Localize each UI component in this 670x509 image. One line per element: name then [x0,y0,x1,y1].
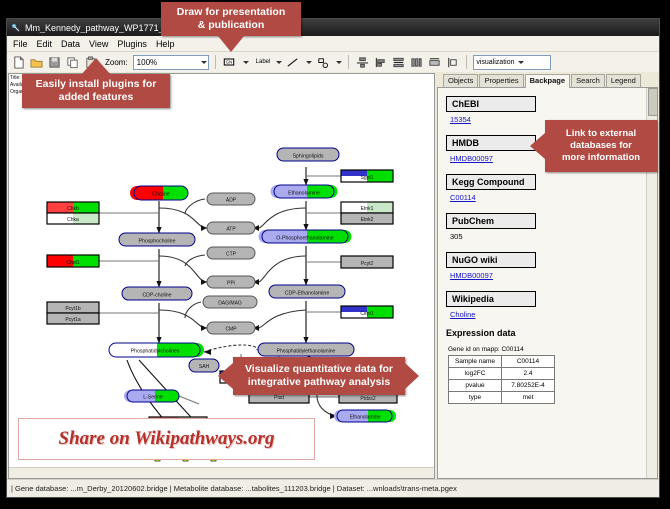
svg-text:Choline: Choline [152,192,170,198]
svg-text:Chpt1: Chpt1 [66,260,80,266]
expr-key-log2fc: log2FC [449,368,502,380]
gene-cept1[interactable]: Cept1 [341,306,393,318]
db-header-kegg: Kegg Compound [446,174,536,190]
svg-text:Chka: Chka [67,217,79,223]
node-phosphatidylcholines[interactable]: Phosphatidylcholines [105,343,204,357]
svg-text:Pcyt1a: Pcyt1a [65,317,81,323]
visualization-chevron-icon[interactable] [518,61,524,64]
node-choline-top[interactable]: Choline [130,186,188,200]
ungroup-icon[interactable] [445,55,460,70]
gene-chkb[interactable]: Chkb [47,202,99,213]
table-row: log2FC 2.4 [449,368,555,380]
callout-draw-text: Draw for presentation & publication [177,6,286,32]
visualization-value: visualization [476,59,514,66]
align-left-edge-icon[interactable] [373,55,388,70]
expr-val-pvalue: 7.80252E-4 [502,380,555,392]
gene-pcyt1b[interactable]: Pcyt1b [47,302,99,313]
svg-text:Pcyt1b: Pcyt1b [65,306,81,312]
node-atp[interactable]: ATP [207,222,255,234]
table-row: Sample name C00114 [449,356,555,368]
group-icon[interactable] [427,55,442,70]
expression-data-heading: Expression data [446,328,657,338]
zoom-combobox[interactable]: 100% [133,55,209,70]
expr-val-type: met [502,392,555,404]
statusbar: | Gene database: ...m_Derby_20120602.bri… [7,479,659,497]
menu-view[interactable]: View [89,39,108,49]
new-file-icon[interactable] [11,55,26,70]
callout-visualize-arrow-left-icon [218,363,233,389]
tab-properties[interactable]: Properties [479,74,523,87]
node-phosphatidylethanolamine[interactable]: Phosphatidylethanolamine [258,343,354,356]
svg-text:Etnk2: Etnk2 [361,217,374,223]
callout-visualize-arrow-right-icon [405,363,419,389]
db-header-hmdb: HMDB [446,135,536,151]
node-ctp[interactable]: CTP [207,247,255,259]
svg-text:CDP-choline: CDP-choline [142,292,171,298]
menu-edit[interactable]: Edit [37,39,53,49]
node-ppi[interactable]: PPi [207,276,255,288]
callout-link-arrow-icon [530,133,545,159]
node-adp[interactable]: ADP [207,193,255,205]
db-header-chebi: ChEBI [446,96,536,112]
svg-text:Ethanolamine: Ethanolamine [350,415,381,421]
node-o-phosphoethanolamine[interactable]: O-Phosphoethanolamine [259,230,352,243]
gene-etnk1[interactable]: Etnk1 [341,202,393,213]
svg-text:Cept1: Cept1 [360,311,374,317]
callout-draw-for-publication: Draw for presentation & publication [161,2,301,36]
gene-chka[interactable]: Chka [47,213,99,224]
toolbar-separator-3 [466,55,467,69]
callout-visualize-data: Visualize quantitative data for integrat… [233,357,405,395]
menubar[interactable]: File Edit Data View Plugins Help [7,36,659,52]
svg-text:Pisd: Pisd [274,395,284,401]
db-link-kegg[interactable]: C00114 [450,193,657,202]
shape-tool-icon[interactable] [315,55,330,70]
db-header-wikipedia: Wikipedia [446,291,536,307]
callout-share-text: Share on Wikipathways.org [59,428,275,450]
menu-plugins[interactable]: Plugins [117,39,147,49]
toolbar-separator-2 [348,55,349,69]
datanode-dropdown-icon[interactable] [243,61,249,64]
backpage-vscroll-thumb[interactable] [648,88,658,116]
side-tabs[interactable]: Objects Properties Backpage Search Legen… [437,73,658,88]
node-ethanolamine-top[interactable]: Ethanolamine [271,185,338,198]
expr-key-pvalue: pvalue [449,380,502,392]
node-sphingolipids[interactable]: Sphingolipids [277,148,339,161]
node-sah[interactable]: SAH [189,359,219,372]
db-value-pubchem: 305 [450,232,657,241]
svg-text:L-Serine: L-Serine [143,395,163,401]
db-entry-pubchem: PubChem 305 [446,211,657,241]
menu-help[interactable]: Help [156,39,175,49]
tab-backpage[interactable]: Backpage [525,74,570,88]
line-dropdown-icon[interactable] [306,61,312,64]
zoom-value: 100% [137,58,157,67]
gene-etnk2[interactable]: Etnk2 [341,213,393,224]
svg-text:Sphingolipids: Sphingolipids [293,153,324,159]
gene-sgpl1[interactable]: Sgpl1 [341,170,393,182]
statusbar-text: | Gene database: ...m_Derby_20120602.bri… [11,484,457,493]
callout-plugins-text: Easily install plugins for added feature… [36,78,157,104]
db-link-nugo[interactable]: HMDB00097 [450,271,657,280]
svg-text:Phosphatidylethanolamine: Phosphatidylethanolamine [277,348,336,354]
svg-text:Pcyt2: Pcyt2 [361,261,374,267]
svg-text:CTP: CTP [226,252,237,258]
svg-text:O-Phosphoethanolamine: O-Phosphoethanolamine [276,235,334,241]
window-titlebar: Mm_Kennedy_pathway_WP1771_45176.gpml [7,19,659,36]
gene-pcyt2[interactable]: Pcyt2 [341,256,393,268]
callout-external-links: Link to external databases for more info… [545,120,657,172]
tab-objects[interactable]: Objects [443,74,478,87]
align-center-icon[interactable] [355,55,370,70]
db-entry-kegg: Kegg Compound C00114 [446,172,657,202]
canvas-hscrollbar[interactable] [9,467,434,478]
svg-text:Etnk1: Etnk1 [361,206,374,212]
svg-text:GN: GN [226,60,232,65]
menu-data[interactable]: Data [61,39,80,49]
svg-text:Phosphatidylcholines: Phosphatidylcholines [131,349,180,355]
node-ethanolamine-right[interactable]: Ethanolamine [334,410,396,422]
callout-plugins-arrow-icon [81,58,111,75]
open-folder-icon[interactable] [29,55,44,70]
shape-dropdown-icon[interactable] [336,61,342,64]
stack-vertical-icon[interactable] [391,55,406,70]
line-tool-icon[interactable] [285,55,300,70]
callout-install-plugins: Easily install plugins for added feature… [22,74,170,108]
db-entry-nugo: NuGO wiki HMDB00097 [446,250,657,280]
svg-text:Ptdss2: Ptdss2 [360,396,376,402]
menu-file[interactable]: File [13,39,28,49]
svg-text:Sgpl1: Sgpl1 [361,175,374,181]
svg-text:PPi: PPi [227,281,235,287]
visualization-combobox[interactable]: visualization [473,55,551,70]
gene-id-on-mapp: Gene id on mapp: C00114 [448,346,657,353]
screenshot-root: Mm_Kennedy_pathway_WP1771_45176.gpml Fil… [0,0,670,509]
expr-val-sample-name: C00114 [502,356,555,368]
node-cdp-ethanolamine[interactable]: CDP-Ethanolamine [269,285,345,298]
datanode-tool-icon[interactable]: GN [222,55,237,70]
expr-key-type: type [449,392,502,404]
svg-text:Phosphocholine: Phosphocholine [139,238,176,244]
node-cmp[interactable]: CMP [207,322,255,334]
table-row: pvalue 7.80252E-4 [449,380,555,392]
toolbar-separator [215,55,216,69]
tab-search[interactable]: Search [571,74,605,87]
svg-text:CDP-Ethanolamine: CDP-Ethanolamine [285,290,330,296]
gene-pcyt1a[interactable]: Pcyt1a [47,313,99,324]
label-dropdown-icon[interactable] [276,61,282,64]
db-header-pubchem: PubChem [446,213,536,229]
db-link-wikipedia[interactable]: Choline [450,310,657,319]
node-dag-mag[interactable]: DAG/MAG [203,296,257,308]
table-row: type met [449,392,555,404]
save-icon[interactable] [47,55,62,70]
svg-text:CMP: CMP [225,327,237,333]
label-tool-label[interactable]: Label [256,59,271,65]
node-phosphocholine[interactable]: Phosphocholine [119,233,195,246]
copy-icon[interactable] [65,55,80,70]
svg-text:ADP: ADP [226,198,237,204]
expression-table: Sample name C00114 log2FC 2.4 pvalue 7.8… [448,355,555,404]
svg-text:Ethanolamine: Ethanolamine [288,190,320,196]
expr-key-sample-name: Sample name [449,356,502,368]
callout-visualize-text: Visualize quantitative data for integrat… [245,363,393,389]
callout-draw-arrow-icon [218,36,244,52]
callout-share-wikipathways: Share on Wikipathways.org [18,418,315,460]
svg-text:Chkb: Chkb [67,206,79,212]
gene-chpt1[interactable]: Chpt1 [47,255,99,267]
chevron-down-icon[interactable] [201,61,207,64]
node-l-serine-left[interactable]: L-Serine [124,390,179,402]
svg-text:SAH: SAH [199,364,210,370]
callout-link-text: Link to external databases for more info… [562,128,640,164]
node-cdp-choline[interactable]: CDP-choline [122,287,192,300]
svg-text:DAG/MAG: DAG/MAG [218,301,242,307]
distribute-horizontal-icon[interactable] [409,55,424,70]
tab-legend[interactable]: Legend [606,74,641,87]
pathvisio-app-icon [11,23,21,33]
db-header-nugo: NuGO wiki [446,252,536,268]
expr-val-log2fc: 2.4 [502,368,555,380]
svg-text:ATP: ATP [226,227,236,233]
db-entry-wikipedia: Wikipedia Choline [446,289,657,319]
